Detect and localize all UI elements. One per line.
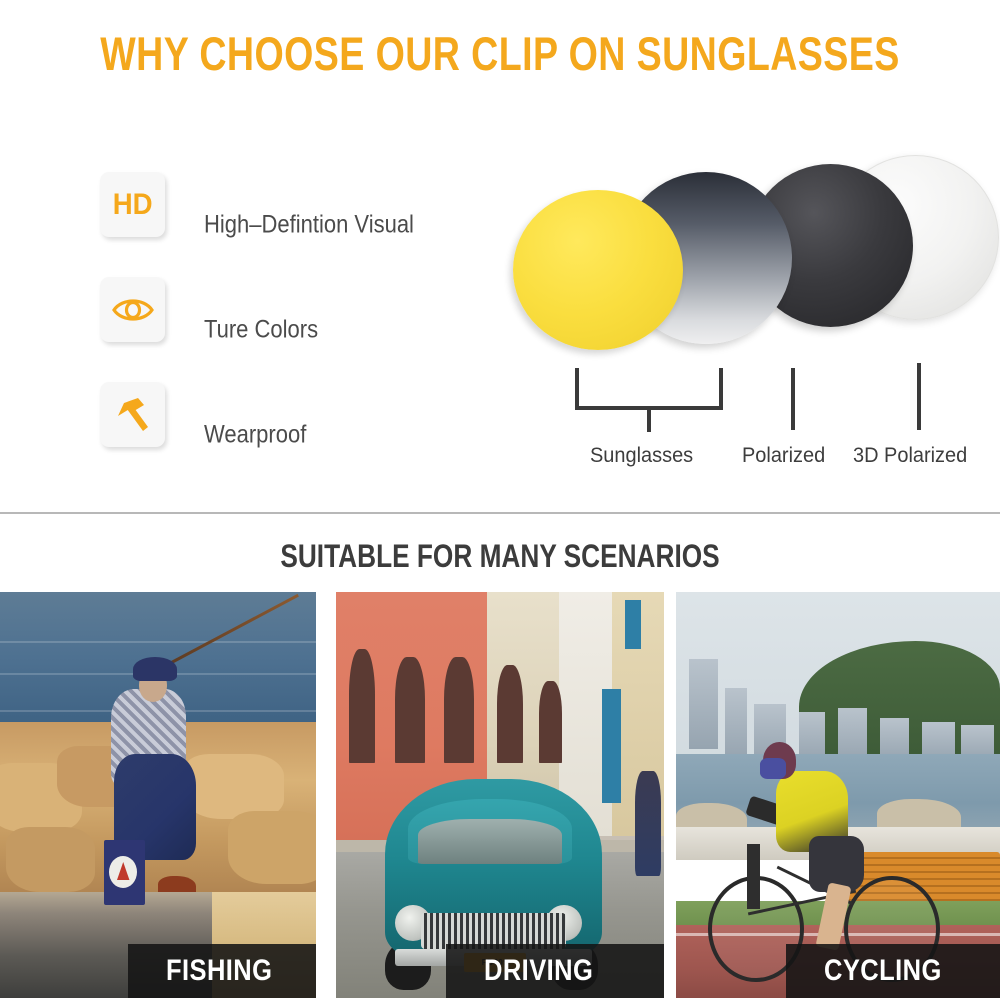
three-d-polarized-tick (917, 363, 921, 430)
window (349, 649, 375, 763)
rock (228, 811, 316, 884)
yellow-lens (513, 190, 683, 350)
driving-scene: FB409 (336, 592, 664, 998)
skyscraper (838, 708, 867, 761)
window (539, 681, 562, 762)
wave-line (0, 641, 316, 643)
cycling-photo: CYCLING (676, 592, 1000, 998)
scenarios-title: SUITABLE FOR MANY SCENARIOS (90, 538, 910, 575)
lens-label-row: Sunglasses Polarized 3D Polarized (0, 444, 1000, 474)
bracket-stem (647, 406, 651, 432)
rock (6, 827, 94, 892)
driving-caption: DRIVING (484, 954, 593, 988)
cycling-caption-band: CYCLING (786, 944, 1000, 998)
fisherman-hat (133, 657, 177, 681)
driving-caption-band: DRIVING (446, 944, 664, 998)
skyscraper (799, 712, 825, 761)
skyscraper (689, 659, 718, 749)
window (497, 665, 523, 762)
city-skyline (676, 665, 1000, 762)
lens-illustration: Sunglasses Polarized 3D Polarized (0, 0, 1000, 512)
fishing-photo: FISHING (0, 592, 316, 998)
polarized-tick (791, 368, 795, 430)
lens-label-polarized: Polarized (742, 444, 825, 468)
window (395, 657, 425, 763)
lens-label-3d-polarized: 3D Polarized (853, 444, 967, 468)
bracket-left-arm (575, 368, 579, 410)
rock (183, 754, 284, 819)
blue-shutter (625, 600, 641, 649)
cycling-caption: CYCLING (824, 954, 942, 988)
scenario-gallery: FISHING (0, 592, 1000, 998)
cyclist-mask (760, 758, 786, 778)
cycling-scene (676, 592, 1000, 998)
section-divider (0, 512, 1000, 514)
fishing-scene (0, 592, 316, 998)
skyscraper (725, 688, 748, 758)
fishing-caption-band: FISHING (128, 944, 316, 998)
pedestrian (635, 771, 661, 877)
lens-label-sunglasses: Sunglasses (590, 444, 693, 468)
infographic-page: WHY CHOOSE OUR CLIP ON SUNGLASSES HD Hig… (0, 0, 1000, 998)
window (444, 657, 474, 763)
handlebar-stem (747, 844, 760, 909)
driving-photo: FB409 DRIVING (336, 592, 664, 998)
blue-door (602, 689, 622, 803)
fishing-caption: FISHING (166, 954, 272, 988)
bracket-right-arm (719, 368, 723, 410)
car-windshield (418, 819, 562, 864)
